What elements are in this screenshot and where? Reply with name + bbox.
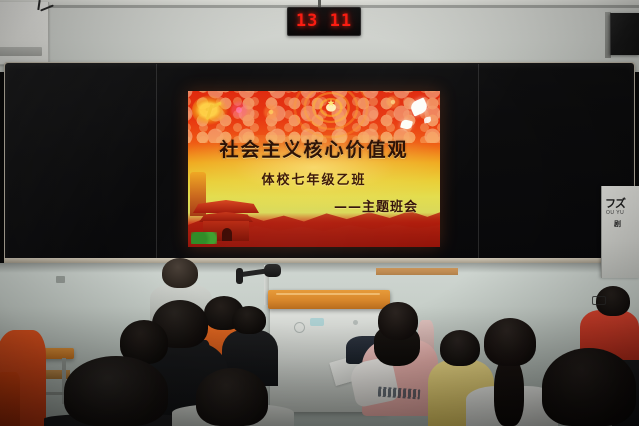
podium-top-highlight bbox=[276, 293, 380, 295]
gate-archway bbox=[222, 228, 232, 241]
wall-socket-icon bbox=[56, 276, 65, 283]
slide-note: ——主题班会 bbox=[188, 196, 440, 215]
projector-arm-joint bbox=[236, 268, 243, 284]
student-dark-mid bbox=[232, 306, 266, 334]
student-ponytail-white bbox=[484, 318, 536, 366]
slide-subtitle: 体校七年级乙班 bbox=[188, 169, 440, 188]
party-emblem-icon bbox=[192, 95, 228, 125]
wall-speaker-icon bbox=[610, 13, 639, 55]
student-dark-foreground-right bbox=[542, 348, 636, 426]
podium-sticker-label bbox=[310, 318, 324, 326]
air-conditioner-icon bbox=[0, 2, 49, 65]
student-yellow-shirt bbox=[440, 330, 480, 366]
ponytail bbox=[494, 356, 524, 426]
firework-rosette-icon bbox=[260, 101, 282, 123]
classroom-photo: 13 11 社会主义核心价值观 bbox=[0, 0, 639, 426]
wall-shadow bbox=[0, 263, 639, 273]
firework-burst-icon bbox=[284, 91, 378, 139]
podium-sticker-circle bbox=[294, 322, 305, 333]
blackboard-panel-seam-left bbox=[156, 64, 157, 260]
glasses-icon bbox=[592, 296, 606, 305]
adult-light-shirt-back bbox=[162, 258, 198, 288]
slide-title: 社会主义核心价值观 bbox=[188, 135, 440, 162]
person-arm bbox=[0, 372, 20, 426]
wall-digital-clock: 13 11 bbox=[287, 7, 361, 36]
student-desk bbox=[376, 268, 458, 275]
student-light-foreground bbox=[196, 368, 268, 426]
firework-rosette-icon bbox=[226, 97, 252, 123]
air-conditioner-vent bbox=[0, 47, 42, 56]
firework-rosette-icon bbox=[384, 93, 402, 111]
person-head bbox=[378, 302, 418, 340]
wall-poster: フズ OU YU 剧 bbox=[601, 186, 639, 278]
podium-sticker-dot bbox=[353, 320, 358, 325]
projector-camera-icon bbox=[264, 264, 281, 277]
sickle-icon bbox=[206, 104, 214, 120]
gate-greenery bbox=[191, 232, 217, 244]
poster-line-3: 剧 bbox=[614, 219, 621, 229]
student-dark-foreground-left bbox=[64, 356, 168, 426]
blackboard-panel-seam-right bbox=[478, 64, 479, 260]
clock-time: 13 11 bbox=[296, 13, 352, 30]
poster-line-2: OU YU bbox=[606, 210, 624, 216]
projector-screen: 社会主义核心价值观 体校七年级乙班 ——主题班会 bbox=[188, 91, 440, 247]
poster-line-1: フズ bbox=[605, 195, 625, 211]
